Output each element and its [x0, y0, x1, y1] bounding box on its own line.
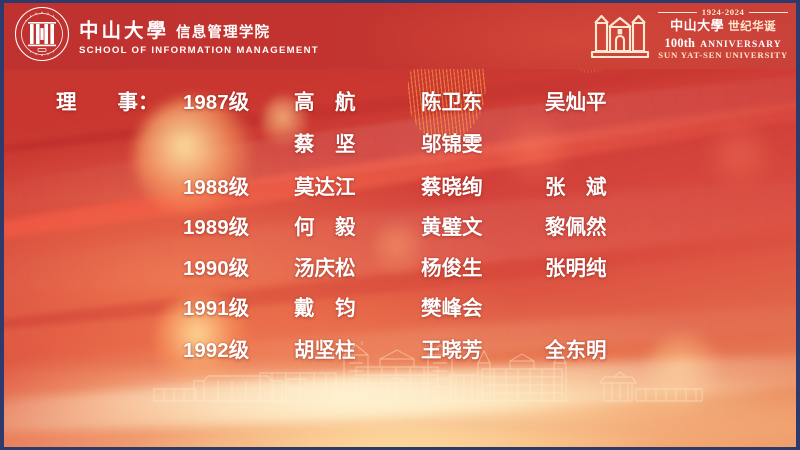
- ribbon-band: [4, 216, 796, 342]
- anniversary-university-en: SUN YAT-SEN UNIVERSITY: [658, 51, 788, 60]
- roster-year: 1991级: [183, 291, 249, 321]
- roster-name: 全东明: [545, 333, 607, 363]
- bokeh-orb: [134, 98, 254, 218]
- roster-year: 1987级: [183, 85, 249, 115]
- anniversary-university-cn: 中山大學: [670, 19, 724, 32]
- anniversary-100-row: 100th ANNIVERSARY: [665, 37, 782, 50]
- roster-year: 1992级: [183, 333, 249, 363]
- anniversary-logo: 1924-2024 中山大學 世纪华诞 100th ANNIVERSARY SU…: [589, 7, 788, 61]
- roster-name: 莫达江: [294, 170, 356, 200]
- roster-name: 杨俊生: [421, 251, 483, 281]
- anniversary-text: 1924-2024 中山大學 世纪华诞 100th ANNIVERSARY SU…: [658, 8, 788, 60]
- campus-skyline-lineart-icon: [4, 319, 796, 403]
- bokeh-orb: [704, 123, 774, 193]
- anniversary-phrase-cn: 世纪华诞: [728, 22, 776, 34]
- rule-left: [658, 12, 697, 13]
- bokeh-orb: [372, 221, 428, 277]
- roster-name: 戴 钧: [294, 291, 356, 321]
- roster-name: 陈卫东: [421, 85, 483, 115]
- ribbon-band: [4, 374, 796, 447]
- roster-name: 蔡 坚: [294, 127, 356, 157]
- roster-name: 汤庆松: [294, 251, 356, 281]
- roster-year: 1988级: [183, 170, 249, 200]
- roster-name: 黎佩然: [545, 210, 607, 240]
- sysu-seal-emblem-icon: [14, 6, 70, 62]
- ribbon-band: [4, 291, 796, 393]
- roster-name: 张明纯: [545, 251, 607, 281]
- roster-name: 何 毅: [294, 210, 356, 240]
- roster-title-label: 理 事：: [56, 85, 159, 115]
- roster-name: 吴灿平: [545, 85, 607, 115]
- roster-name: 樊峰会: [421, 291, 483, 321]
- roster-name: 王晓芳: [421, 333, 483, 363]
- roster-name: 张 斌: [545, 170, 607, 200]
- school-name-cn: 中山大學 信息管理学院: [79, 14, 319, 43]
- school-brand: 中山大學 信息管理学院 SCHOOL OF INFORMATION MANAGE…: [14, 6, 319, 62]
- roster-name: 蔡晓绚: [421, 170, 483, 200]
- rule-right: [749, 12, 788, 13]
- anniversary-number: 100th: [665, 37, 696, 49]
- anniversary-years-row: 1924-2024: [658, 8, 788, 17]
- anniversary-word: ANNIVERSARY: [700, 40, 782, 50]
- roster-name: 黄璧文: [421, 210, 483, 240]
- slide-canvas: 中山大學 信息管理学院 SCHOOL OF INFORMATION MANAGE…: [4, 3, 796, 447]
- school-name-sub-cn: 信息管理学院: [176, 21, 270, 42]
- roster-name: 胡坚柱: [294, 333, 356, 363]
- bokeh-orb: [644, 333, 724, 413]
- ribbon-band: [4, 341, 796, 447]
- school-name-en: SCHOOL OF INFORMATION MANAGEMENT: [79, 45, 319, 56]
- school-brand-text: 中山大學 信息管理学院 SCHOOL OF INFORMATION MANAGE…: [79, 12, 319, 56]
- roster-year: 1989级: [183, 210, 249, 240]
- ribbon-band: [4, 51, 796, 231]
- ribbon-band: [4, 385, 796, 447]
- university-name-cn: 中山大學: [79, 14, 169, 43]
- ribbon-band: [4, 158, 796, 316]
- sysu-gate-building-icon: [589, 7, 651, 61]
- roster-year: 1990级: [183, 251, 249, 281]
- roster-name: 邬锦雯: [421, 127, 483, 157]
- roster-name: 高 航: [294, 85, 356, 115]
- anniversary-years: 1924-2024: [702, 8, 745, 17]
- bottom-glow: [4, 367, 796, 423]
- anniversary-cn-row: 中山大學 世纪华诞: [670, 19, 776, 34]
